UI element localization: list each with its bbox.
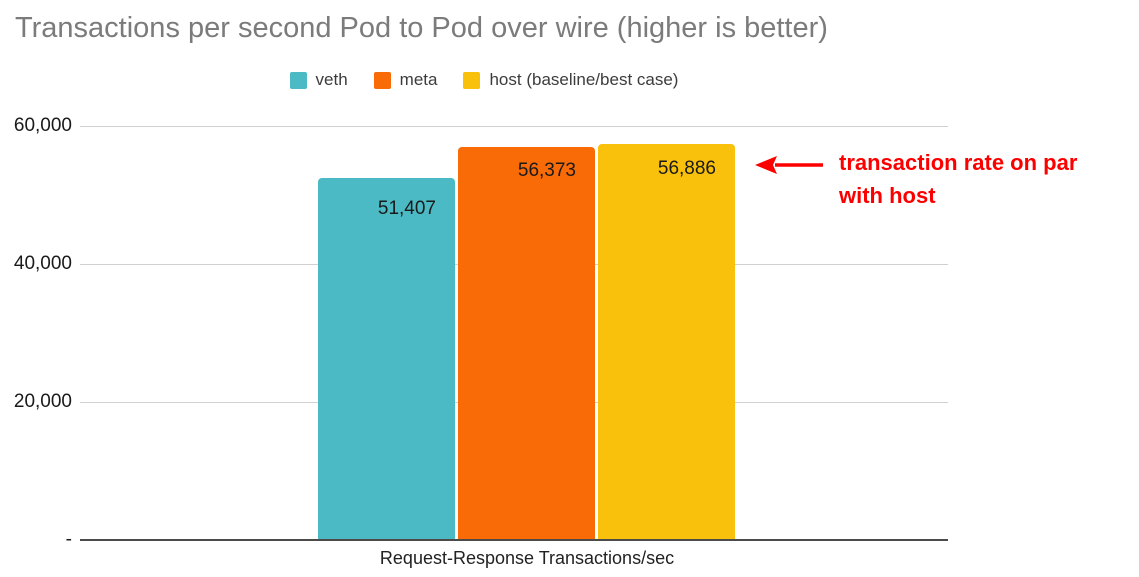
bar-value-veth: 51,407: [318, 198, 436, 220]
bar-value-host: 56,886: [598, 158, 716, 180]
axis-baseline: [80, 539, 948, 541]
gridline-60000: [80, 126, 948, 127]
annotation-text: transaction rate on par with host: [839, 146, 1129, 212]
y-tick-label-20000: 20,000: [0, 391, 72, 413]
y-tick-label-40000: 40,000: [0, 253, 72, 275]
bar-host[interactable]: [598, 144, 735, 539]
bar-meta[interactable]: [458, 147, 595, 539]
annotation-callout: transaction rate on par with host: [755, 146, 1135, 226]
left-arrow-icon: [755, 154, 825, 176]
annotation-line-1: transaction rate on par: [839, 146, 1129, 179]
bar-veth[interactable]: [318, 178, 455, 539]
y-tick-label-zero: -: [0, 529, 72, 551]
x-axis-label: Request-Response Transactions/sec: [318, 548, 736, 569]
chart-plot-area: 60,000 40,000 20,000 - 51,407 56,373 56,…: [0, 0, 1139, 577]
bar-value-meta: 56,373: [458, 160, 576, 182]
y-tick-label-60000: 60,000: [0, 115, 72, 137]
annotation-line-2: with host: [839, 179, 1129, 212]
